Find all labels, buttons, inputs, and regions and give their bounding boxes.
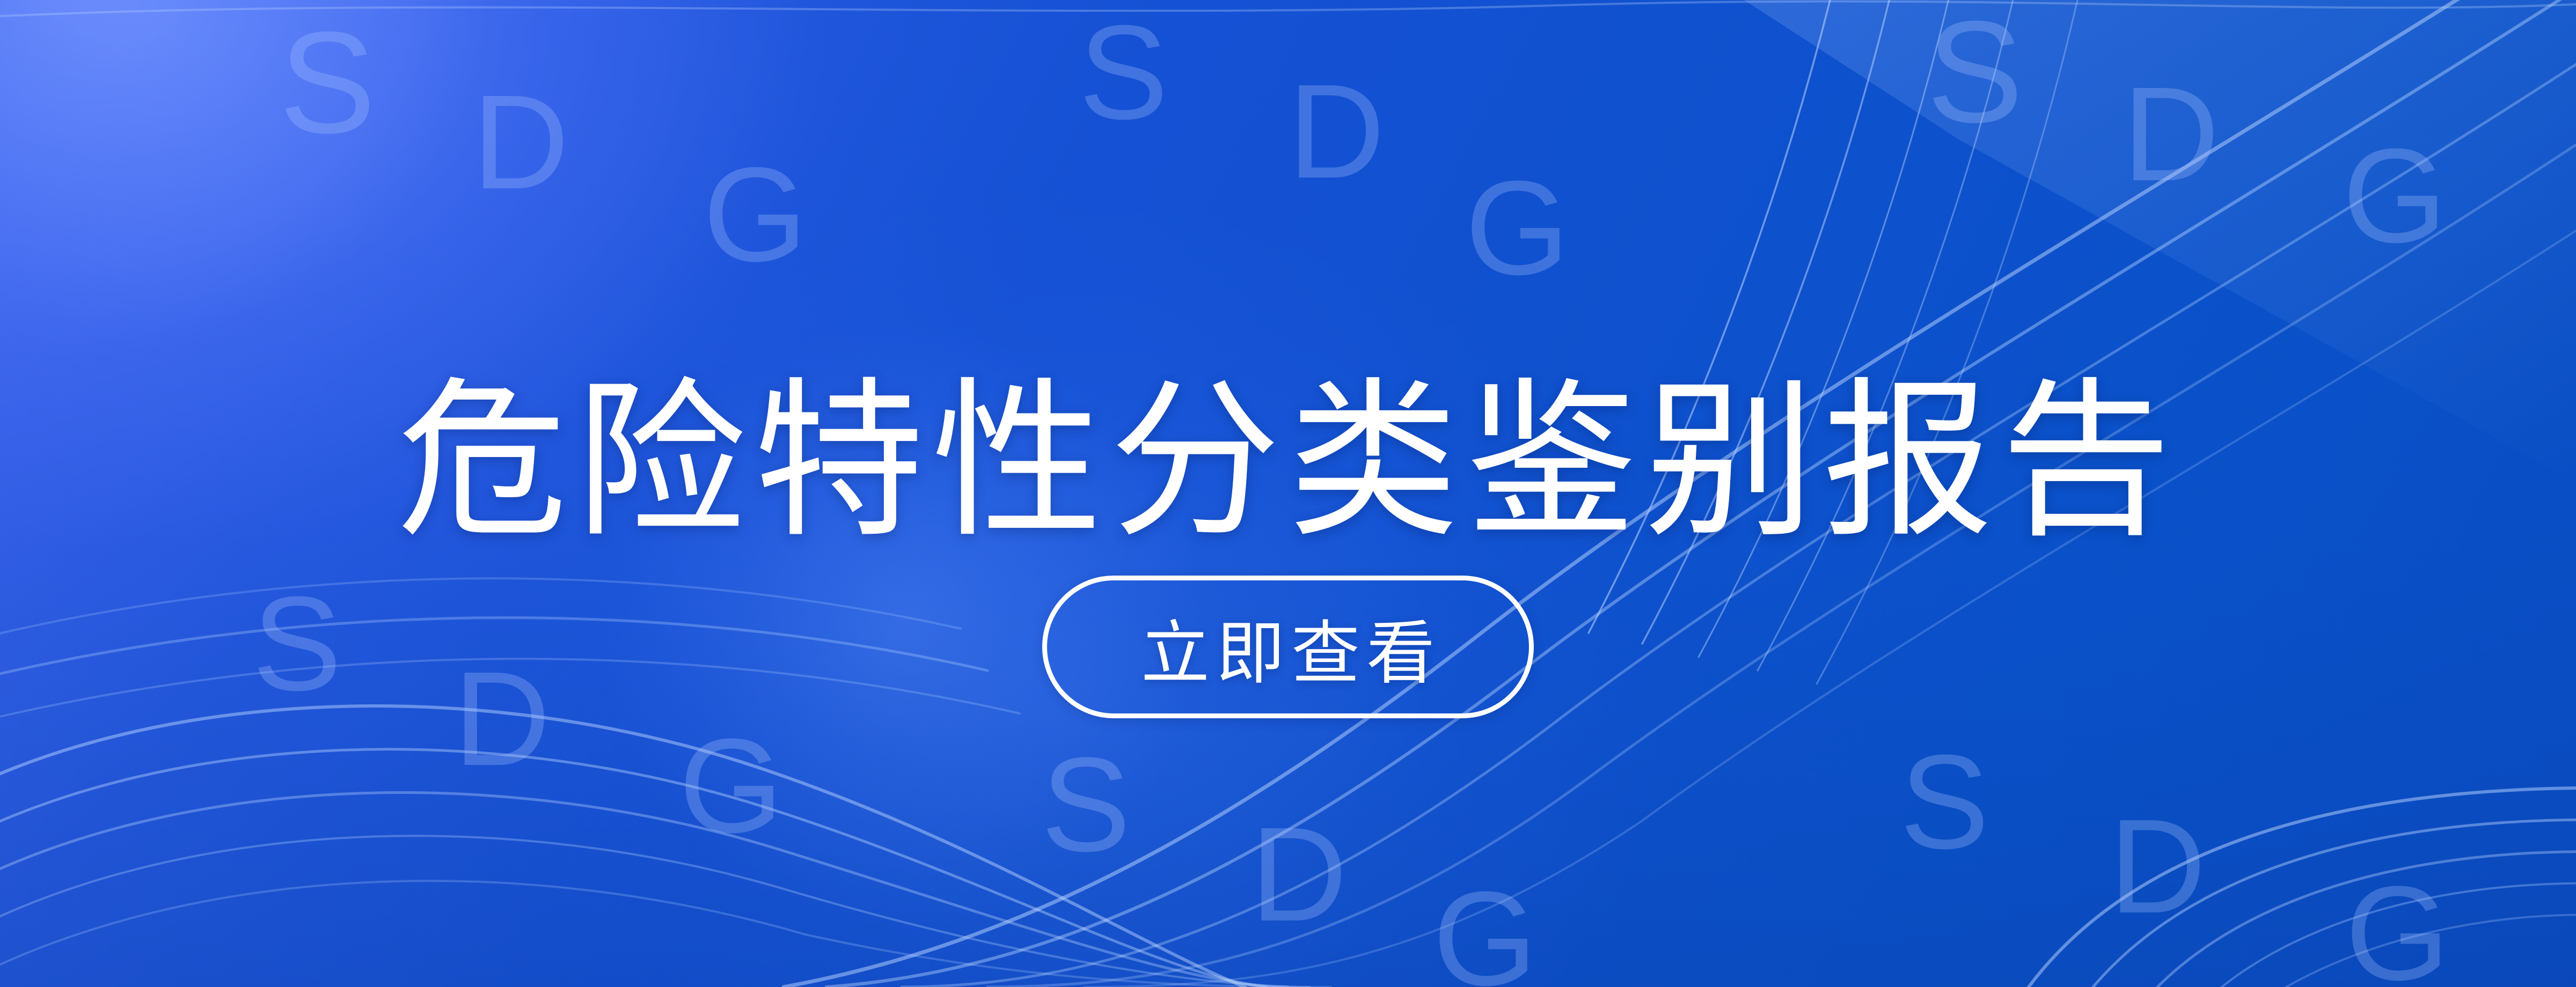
watermark-letter-s: S <box>279 11 376 156</box>
promo-banner: SDGSDGSDGSDGSDGSDG 危险特性分类鉴别报告 立即查看 <box>0 0 2576 987</box>
watermark-letter-g: G <box>1433 872 1537 987</box>
page-title: 危险特性分类鉴别报告 <box>397 366 2179 557</box>
view-now-button[interactable]: 立即查看 <box>1042 576 1534 718</box>
watermark-letter-s: S <box>1900 735 1989 869</box>
watermark-letter-d: D <box>2109 799 2206 933</box>
watermark-letter-g: G <box>679 719 783 853</box>
watermark-letter-g: G <box>2343 129 2447 263</box>
cta-area: 立即查看 <box>0 576 2576 718</box>
watermark-letter-d: D <box>1288 64 1385 198</box>
watermark-letter-d: D <box>1250 807 1348 941</box>
watermark-letter-g: G <box>2345 866 2449 987</box>
watermark-letter-s: S <box>1079 5 1168 139</box>
watermark-letter-d: D <box>2123 67 2220 201</box>
watermark-letter-d: D <box>472 75 569 209</box>
watermark-letter-s: S <box>1041 738 1131 872</box>
watermark-letter-s: S <box>1927 0 2023 145</box>
